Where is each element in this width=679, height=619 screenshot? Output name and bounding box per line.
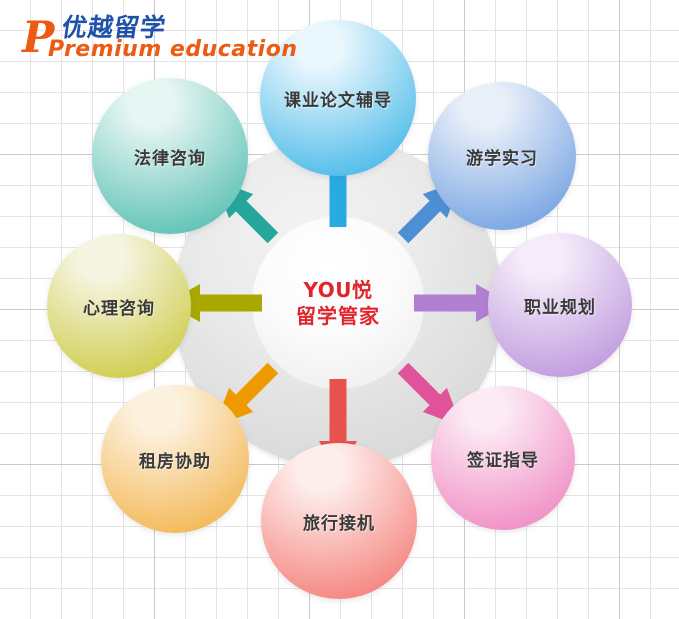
node-career-planning[interactable]: 职业规划 [488,233,632,377]
node-legal-consultation-label: 法律咨询 [134,144,206,169]
logo-english-name: Premium education [48,38,297,62]
diagram-canvas: P 优越留学 Premium education YOU悦 留学管家 课业论文辅… [0,0,679,619]
node-study-tour-internship[interactable]: 游学实习 [428,82,576,230]
node-visa-guidance[interactable]: 签证指导 [431,386,575,530]
center-hub-label: YOU悦 留学管家 [252,217,424,389]
node-visa-guidance-label: 签证指导 [467,446,539,471]
node-housing-assistance-label: 租房协助 [139,447,211,472]
node-legal-consultation[interactable]: 法律咨询 [92,78,248,234]
node-psychological-counseling[interactable]: 心理咨询 [47,234,191,378]
brand-logo: P 优越留学 Premium education [22,14,272,62]
node-housing-assistance[interactable]: 租房协助 [101,385,249,533]
node-career-planning-label: 职业规划 [524,293,596,318]
node-psychological-counseling-label: 心理咨询 [83,294,155,319]
node-academic-thesis-label: 课业论文辅导 [284,86,392,111]
node-travel-pickup[interactable]: 旅行接机 [261,443,417,599]
center-label-line2: 留学管家 [296,303,380,329]
center-label-line1: YOU悦 [303,277,372,303]
node-travel-pickup-label: 旅行接机 [303,509,375,534]
node-study-tour-internship-label: 游学实习 [466,144,538,169]
